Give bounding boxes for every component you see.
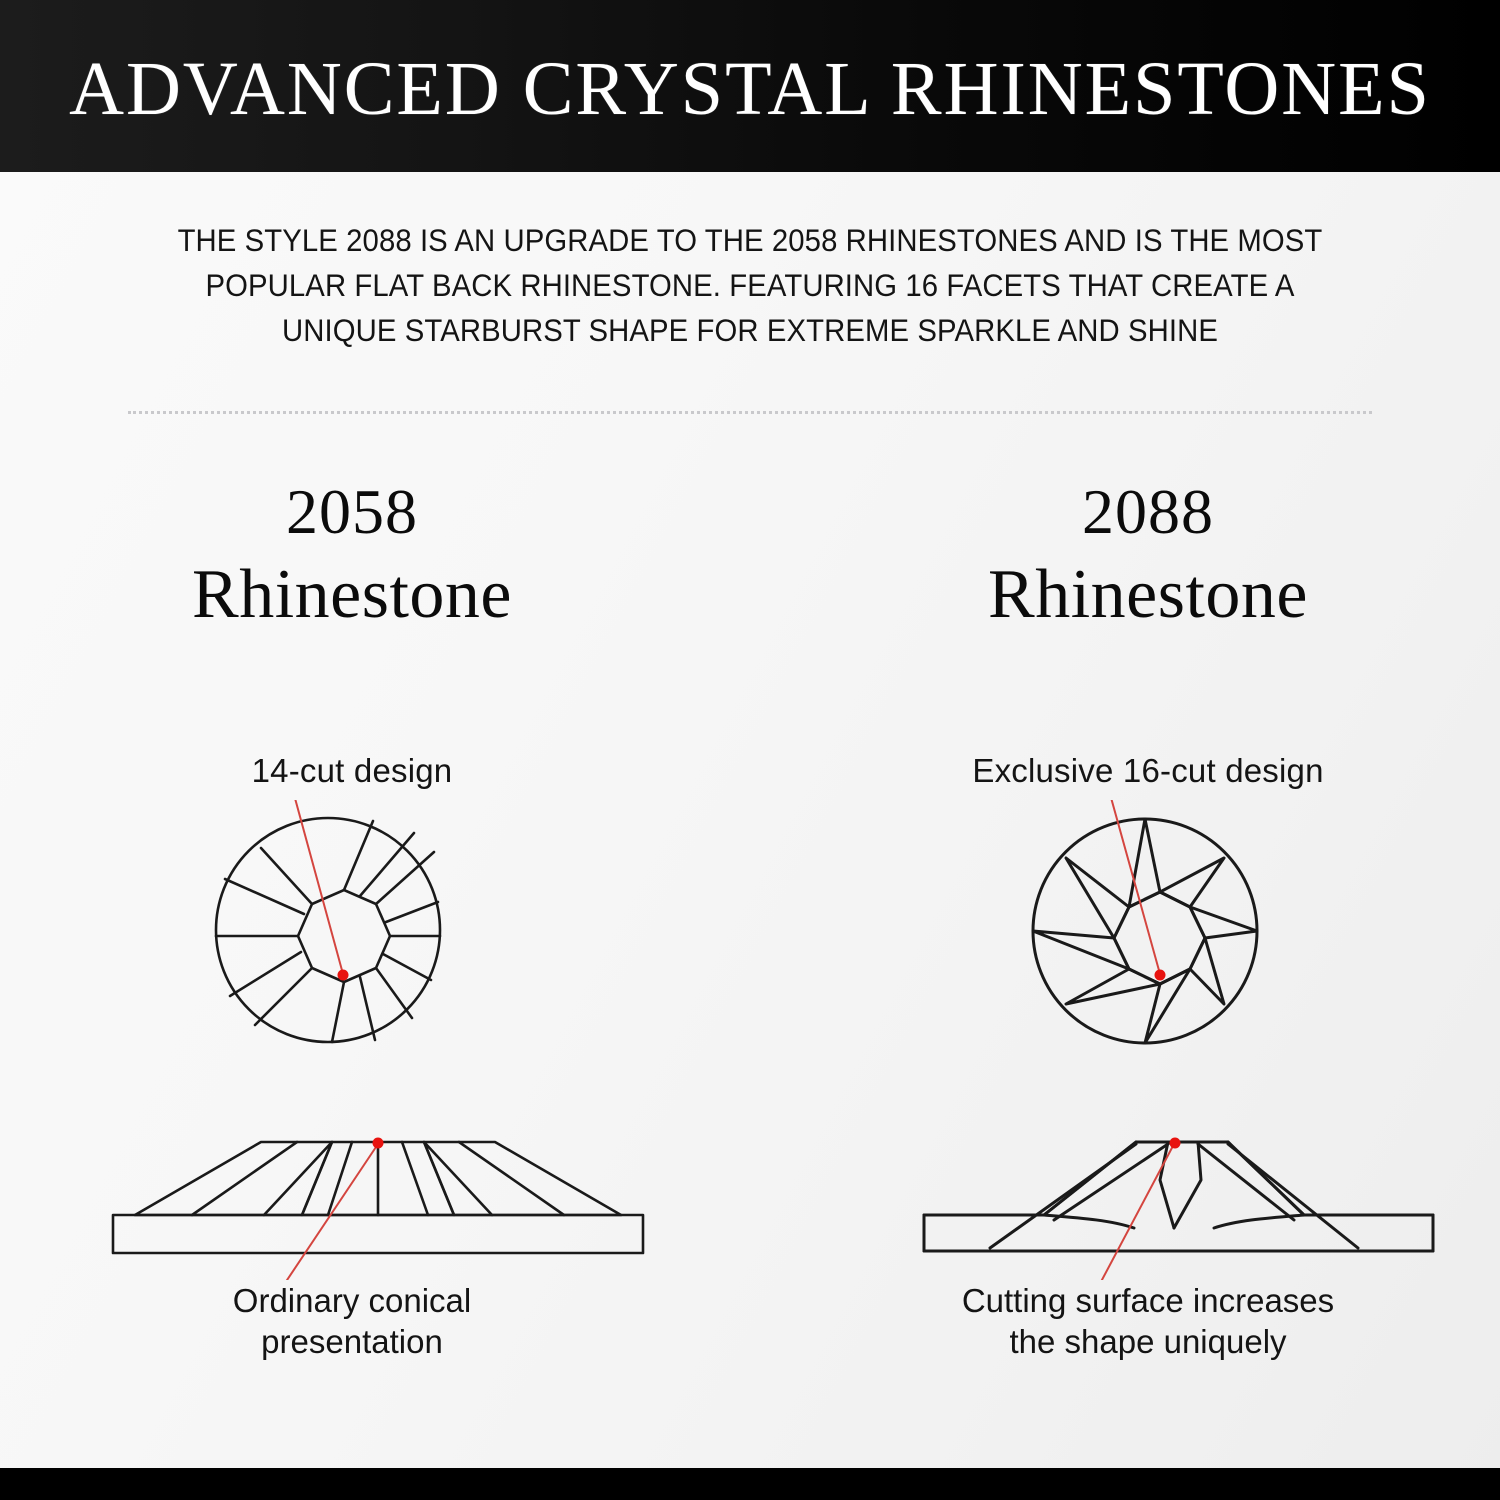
intro-block: THE STYLE 2088 IS AN UPGRADE TO THE 2058… [120,218,1380,353]
outer-circle [1033,819,1257,1043]
star-spike-nw [1066,858,1129,938]
leader-dot-2058-side [373,1138,384,1149]
star-spike-e [1190,907,1257,938]
caption-2088-line2: the shape uniquely [838,1321,1458,1362]
caption-2088: Cutting surface increases the shape uniq… [838,1280,1458,1362]
leader-dot-2088-side [1170,1138,1181,1149]
header-bar: ADVANCED CRYSTAL RHINESTONES [0,0,1500,172]
footer-bar [0,1468,1500,1500]
cut-label-2058: 14-cut design [42,752,662,790]
cut-label-2088: Exclusive 16-cut design [838,752,1458,790]
infographic-page: ADVANCED CRYSTAL RHINESTONES THE STYLE 2… [0,0,1500,1500]
base-slab [113,1215,643,1253]
2088-top-view-diagram [838,800,1458,1070]
2058-side-view-svg [42,1120,662,1280]
cone-body-right [424,1142,621,1215]
leader-line-2058 [284,800,343,974]
2058-side-view-diagram [42,1120,662,1280]
2058-top-view-svg [42,800,662,1070]
star-spike-ne [1160,858,1224,907]
2088-top-view-svg [838,800,1458,1070]
heading-2058: 2058 Rhinestone [42,480,662,630]
column-2088: 2088 Rhinestone Exclusive 16-cut design [838,480,1458,630]
caption-2088-line1: Cutting surface increases [838,1280,1458,1321]
2088-side-view-diagram [838,1120,1458,1280]
center-groove-right [1174,1142,1201,1228]
center-groove-left [1160,1142,1174,1228]
caption-2058-line2: presentation [42,1321,662,1362]
heading-2058-number: 2058 [42,480,662,544]
heading-2058-word: Rhinestone [42,560,662,630]
leader-dot-2058 [338,970,349,981]
caption-2058-line1: Ordinary conical [42,1280,662,1321]
2088-side-view-svg [838,1120,1458,1280]
dotted-divider [128,411,1372,414]
column-2058: 2058 Rhinestone 14-cut design [42,480,662,630]
page-title: ADVANCED CRYSTAL RHINESTONES [69,45,1431,127]
leader-line-2088-side [1086,1144,1174,1280]
heading-2088: 2088 Rhinestone [838,480,1458,630]
cone-body-left [135,1142,332,1215]
leader-dot-2088 [1155,970,1166,981]
stone-outline [924,1142,1433,1251]
2058-top-view-diagram [42,800,662,1070]
heading-2088-number: 2088 [838,480,1458,544]
intro-paragraph: THE STYLE 2088 IS AN UPGRADE TO THE 2058… [164,218,1336,353]
star-spike-n [1129,819,1160,907]
star-spike-se [1190,938,1224,1004]
caption-2058: Ordinary conical presentation [42,1280,662,1362]
star-spike-sw [1066,969,1160,1004]
heading-2088-word: Rhinestone [838,560,1458,630]
